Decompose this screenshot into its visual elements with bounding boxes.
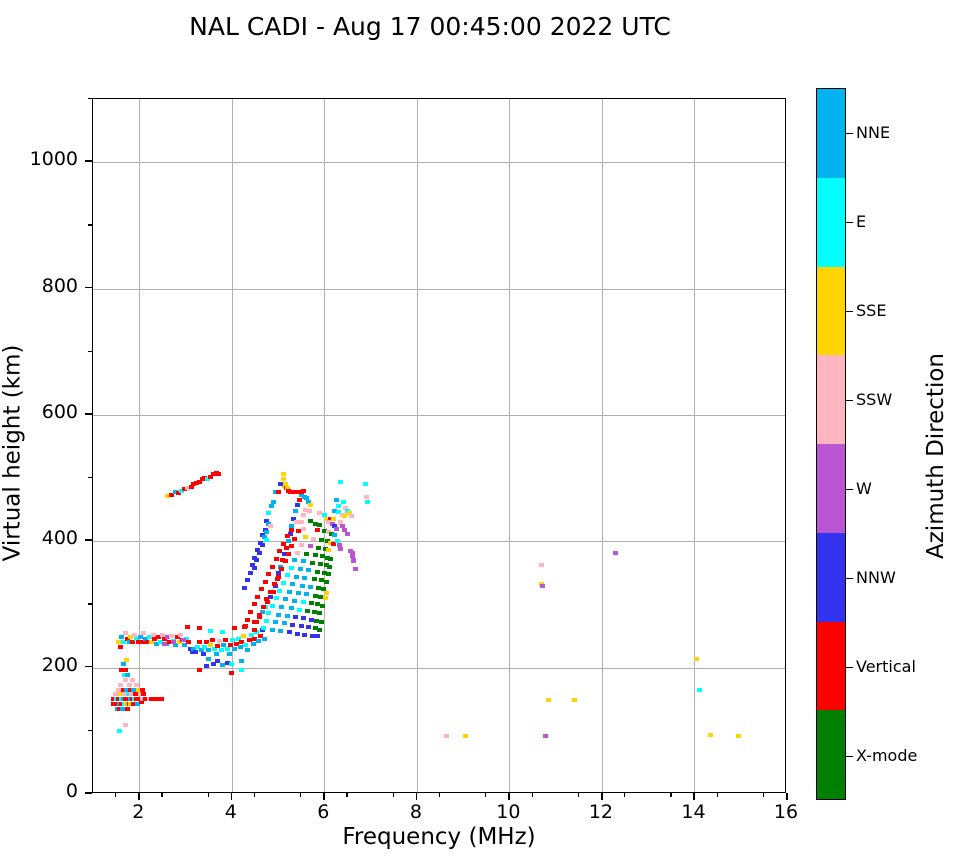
x-tick-label: 6	[293, 801, 353, 823]
data-point	[302, 633, 307, 637]
data-point	[546, 698, 551, 702]
y-tick	[85, 413, 92, 415]
data-point	[299, 520, 304, 524]
data-point	[303, 535, 308, 539]
colorbar-label-nnw: NNW	[856, 568, 896, 587]
x-tick	[416, 793, 418, 800]
data-point	[204, 664, 209, 668]
x-tick-label: 16	[756, 801, 816, 823]
ionogram-figure: NAL CADI - Aug 17 00:45:00 2022 UTC 2468…	[0, 0, 958, 857]
y-tick	[85, 792, 92, 794]
colorbar-tick	[846, 578, 853, 580]
data-point	[312, 610, 317, 614]
data-point	[326, 548, 331, 552]
data-point	[316, 546, 321, 550]
data-point	[349, 514, 354, 518]
data-point	[232, 626, 237, 630]
data-point	[141, 631, 146, 635]
x-tick-minor	[115, 793, 116, 797]
x-tick-minor	[254, 793, 255, 797]
colorbar-tick	[846, 756, 853, 758]
data-point	[140, 688, 145, 692]
data-point	[185, 625, 190, 629]
data-point	[220, 630, 225, 634]
x-tick-minor	[717, 793, 718, 797]
data-point	[276, 613, 281, 617]
x-tick-minor	[208, 793, 209, 797]
y-tick-minor	[88, 224, 92, 225]
data-point	[239, 668, 244, 672]
data-point	[113, 692, 118, 696]
colorbar-tick	[846, 489, 853, 491]
data-point	[276, 490, 281, 494]
x-tick-minor	[393, 793, 394, 797]
data-point	[694, 657, 699, 661]
data-point	[315, 528, 320, 532]
colorbar-label-vertical: Vertical	[856, 657, 916, 676]
data-point	[171, 640, 176, 644]
data-point	[304, 552, 309, 556]
data-point	[252, 566, 257, 570]
data-point	[169, 634, 174, 638]
data-point	[159, 697, 164, 701]
data-point	[345, 532, 350, 536]
data-point	[123, 723, 128, 727]
data-point	[264, 530, 269, 534]
data-point	[266, 572, 271, 576]
data-point	[268, 590, 273, 594]
data-point	[124, 658, 129, 662]
data-point	[208, 629, 213, 633]
data-point	[281, 472, 286, 476]
data-point	[254, 558, 259, 562]
data-point	[348, 549, 353, 553]
data-point	[269, 504, 274, 508]
data-point	[216, 472, 221, 476]
data-point	[281, 542, 286, 546]
data-point	[613, 551, 618, 555]
data-point	[125, 707, 130, 711]
data-point	[320, 604, 325, 608]
data-point	[272, 582, 277, 586]
data-point	[350, 554, 355, 558]
data-point	[211, 662, 216, 666]
data-point	[206, 648, 211, 652]
data-point	[273, 620, 278, 624]
data-point	[239, 659, 244, 663]
data-point	[307, 509, 312, 513]
x-tick-minor	[439, 793, 440, 797]
data-point	[264, 597, 269, 601]
data-point	[697, 688, 702, 692]
data-point	[257, 613, 262, 617]
x-tick	[138, 793, 140, 800]
data-point	[263, 580, 268, 584]
colorbar-label-x-mode: X-mode	[856, 746, 917, 765]
y-tick-minor	[88, 730, 92, 731]
data-point	[285, 573, 290, 577]
data-point	[310, 561, 315, 565]
data-point	[289, 544, 294, 548]
y-axis-label: Virtual height (km)	[0, 106, 26, 801]
data-point	[289, 566, 294, 570]
data-point	[138, 635, 143, 639]
data-point	[299, 624, 304, 628]
data-point	[130, 678, 135, 682]
data-point	[160, 633, 165, 637]
data-point	[444, 734, 449, 738]
data-point	[317, 611, 322, 615]
data-point	[306, 568, 311, 572]
x-tick-label: 2	[108, 801, 168, 823]
data-point	[301, 559, 306, 563]
data-point	[242, 625, 247, 629]
data-point	[181, 638, 186, 642]
data-point	[206, 657, 211, 661]
data-point	[323, 596, 328, 600]
colorbar-label-e: E	[856, 212, 866, 231]
data-point	[282, 621, 287, 625]
data-point	[259, 587, 264, 591]
data-point	[290, 623, 295, 627]
data-point	[242, 586, 247, 590]
data-point	[301, 600, 306, 604]
x-axis-label: Frequency (MHz)	[92, 824, 786, 850]
x-tick	[786, 793, 788, 800]
data-point	[312, 577, 317, 581]
data-point	[251, 642, 256, 646]
data-point	[123, 631, 128, 635]
data-point	[463, 734, 468, 738]
data-point	[319, 538, 324, 542]
data-point	[540, 584, 545, 588]
data-point	[287, 630, 292, 634]
colorbar-tick	[846, 667, 853, 669]
x-tick-minor	[578, 793, 579, 797]
data-point	[262, 637, 267, 641]
data-point	[162, 642, 167, 646]
colorbar-label-w: W	[856, 479, 872, 498]
data-point	[227, 652, 232, 656]
data-point	[292, 599, 297, 603]
colorbar-tick	[846, 400, 853, 402]
data-point	[123, 668, 128, 672]
data-point	[299, 490, 304, 494]
data-point	[539, 563, 544, 567]
data-point	[336, 504, 341, 508]
data-point	[252, 628, 257, 632]
x-tick-minor	[670, 793, 671, 797]
data-point	[315, 570, 320, 574]
data-point	[283, 559, 288, 563]
data-point	[266, 611, 271, 615]
data-point	[304, 592, 309, 596]
data-point	[301, 513, 306, 517]
data-point	[197, 640, 202, 644]
data-point	[363, 482, 368, 486]
colorbar-tick	[846, 311, 853, 313]
x-tick	[601, 793, 603, 800]
data-point	[301, 527, 306, 531]
data-point	[328, 557, 333, 561]
y-tick	[85, 539, 92, 541]
colorbar-label-ssw: SSW	[856, 390, 892, 409]
data-point	[201, 652, 206, 656]
data-point	[324, 580, 329, 584]
data-point	[292, 558, 297, 562]
data-point	[270, 628, 275, 632]
colorbar-segment-e[interactable]	[817, 178, 845, 267]
data-point	[256, 639, 261, 643]
colorbar-tick	[846, 222, 853, 224]
data-point	[178, 633, 183, 637]
data-point	[281, 477, 286, 481]
data-point	[278, 629, 283, 633]
data-point	[260, 543, 265, 547]
data-point	[306, 625, 311, 629]
data-point	[285, 534, 290, 538]
data-point	[287, 590, 292, 594]
colorbar-segment-x-mode[interactable]	[817, 710, 845, 799]
x-tick-label: 8	[386, 801, 446, 823]
data-point	[125, 673, 130, 677]
data-point	[270, 604, 275, 608]
colorbar-segment-sse[interactable]	[817, 267, 845, 356]
data-point	[279, 567, 284, 571]
data-point	[334, 527, 339, 531]
data-point	[214, 652, 219, 656]
data-point	[342, 514, 347, 518]
data-point	[318, 562, 323, 566]
data-point	[319, 620, 324, 624]
page-title: NAL CADI - Aug 17 00:45:00 2022 UTC	[0, 12, 860, 41]
data-point	[243, 643, 248, 647]
colorbar[interactable]	[816, 88, 846, 800]
data-point	[290, 582, 295, 586]
data-point	[285, 614, 290, 618]
data-point	[308, 544, 313, 548]
data-point	[254, 620, 259, 624]
data-point	[270, 565, 275, 569]
data-point	[292, 537, 297, 541]
data-point	[297, 608, 302, 612]
x-tick-label: 12	[571, 801, 631, 823]
x-tick-minor	[485, 793, 486, 797]
colorbar-label-sse: SSE	[856, 301, 886, 320]
data-point	[313, 594, 318, 598]
data-point	[305, 609, 310, 613]
data-point	[229, 662, 234, 666]
data-point	[281, 581, 286, 585]
data-point	[277, 589, 282, 593]
data-point	[332, 533, 337, 537]
colorbar-segment-nnw[interactable]	[817, 533, 845, 622]
data-point	[121, 662, 126, 666]
data-point	[252, 602, 257, 606]
plot-area[interactable]	[92, 98, 786, 793]
data-point	[297, 498, 302, 502]
data-point	[245, 648, 250, 652]
data-point	[117, 729, 122, 733]
x-tick-label: 4	[201, 801, 261, 823]
colorbar-label-nne: NNE	[856, 123, 890, 142]
data-point	[151, 633, 156, 637]
data-point	[286, 539, 291, 543]
data-point	[317, 628, 322, 632]
data-point	[708, 733, 713, 737]
colorbar-title: Azimuth Direction	[923, 100, 949, 812]
data-point	[313, 553, 318, 557]
data-point	[241, 634, 246, 638]
colorbar-tick	[846, 133, 853, 135]
y-tick-minor	[88, 98, 92, 99]
data-point	[295, 503, 300, 507]
data-point	[123, 678, 128, 682]
data-point	[264, 619, 269, 623]
x-tick-minor	[624, 793, 625, 797]
x-tick	[508, 793, 510, 800]
data-point	[289, 606, 294, 610]
data-point	[255, 595, 260, 599]
data-point	[324, 591, 329, 595]
data-point	[127, 683, 132, 687]
colorbar-segment-nne[interactable]	[817, 89, 845, 178]
data-point	[341, 500, 346, 504]
data-point	[220, 663, 225, 667]
data-point	[543, 734, 548, 738]
x-tick	[323, 793, 325, 800]
x-tick-minor	[532, 793, 533, 797]
data-point	[268, 524, 273, 528]
data-point	[310, 634, 315, 638]
data-point	[141, 692, 146, 696]
data-point	[279, 605, 284, 609]
data-point	[295, 551, 300, 555]
data-point	[317, 523, 322, 527]
y-tick	[85, 666, 92, 668]
data-point	[118, 683, 123, 687]
data-point	[334, 498, 339, 502]
x-tick-label: 10	[478, 801, 538, 823]
x-tick-label: 14	[663, 801, 723, 823]
data-point	[296, 591, 301, 595]
data-point	[572, 698, 577, 702]
x-tick	[231, 793, 233, 800]
colorbar-segment-w[interactable]	[817, 444, 845, 533]
data-point	[257, 551, 262, 555]
x-tick	[693, 793, 695, 800]
colorbar-segment-ssw[interactable]	[817, 355, 845, 444]
data-point	[293, 509, 298, 513]
data-point	[353, 567, 358, 571]
y-tick-minor	[88, 603, 92, 604]
data-point	[245, 578, 250, 582]
data-point	[261, 605, 266, 609]
data-point	[293, 615, 298, 619]
y-tick	[85, 160, 92, 162]
data-point	[283, 597, 288, 601]
data-point	[315, 634, 320, 638]
data-point	[351, 559, 356, 563]
data-point	[264, 538, 269, 542]
data-point	[219, 648, 224, 652]
data-point	[197, 626, 202, 630]
x-tick-minor	[161, 793, 162, 797]
data-point	[736, 734, 741, 738]
data-point	[308, 585, 313, 589]
data-point	[261, 626, 266, 630]
x-tick-minor	[300, 793, 301, 797]
data-point	[229, 671, 234, 675]
data-point	[245, 618, 250, 622]
data-point	[248, 610, 253, 614]
data-point	[232, 647, 237, 651]
data-point	[308, 503, 313, 507]
data-point	[223, 638, 228, 642]
colorbar-segment-vertical[interactable]	[817, 622, 845, 711]
data-point	[309, 601, 314, 605]
data-point	[295, 632, 300, 636]
data-point	[186, 640, 191, 644]
data-point	[302, 576, 307, 580]
data-point	[326, 572, 331, 576]
y-tick-minor	[88, 477, 92, 478]
data-point	[238, 645, 243, 649]
x-tick-minor	[346, 793, 347, 797]
data-point	[276, 575, 281, 579]
data-point	[134, 683, 139, 687]
data-point	[300, 584, 305, 588]
data-point	[197, 668, 202, 672]
scatter-points-layer	[93, 99, 785, 792]
data-point	[132, 633, 137, 637]
data-point	[301, 616, 306, 620]
data-point	[309, 618, 314, 622]
data-point	[119, 635, 124, 639]
data-point	[299, 543, 304, 547]
data-point	[298, 567, 303, 571]
data-point	[278, 482, 283, 486]
data-point	[289, 528, 294, 532]
data-point	[248, 571, 253, 575]
data-point	[338, 480, 343, 484]
data-point	[118, 645, 123, 649]
y-tick	[85, 287, 92, 289]
data-point	[311, 537, 316, 541]
x-tick-minor	[763, 793, 764, 797]
data-point	[327, 565, 332, 569]
data-point	[266, 511, 271, 515]
data-point	[274, 596, 279, 600]
data-point	[294, 575, 299, 579]
data-point	[364, 495, 369, 499]
y-tick-minor	[88, 351, 92, 352]
data-point	[210, 638, 215, 642]
data-point	[225, 647, 230, 651]
data-point	[274, 557, 279, 561]
data-point	[365, 500, 370, 504]
data-point	[331, 517, 336, 521]
data-point	[286, 552, 291, 556]
data-point	[338, 547, 343, 551]
data-point	[193, 650, 198, 654]
data-point	[277, 549, 282, 553]
